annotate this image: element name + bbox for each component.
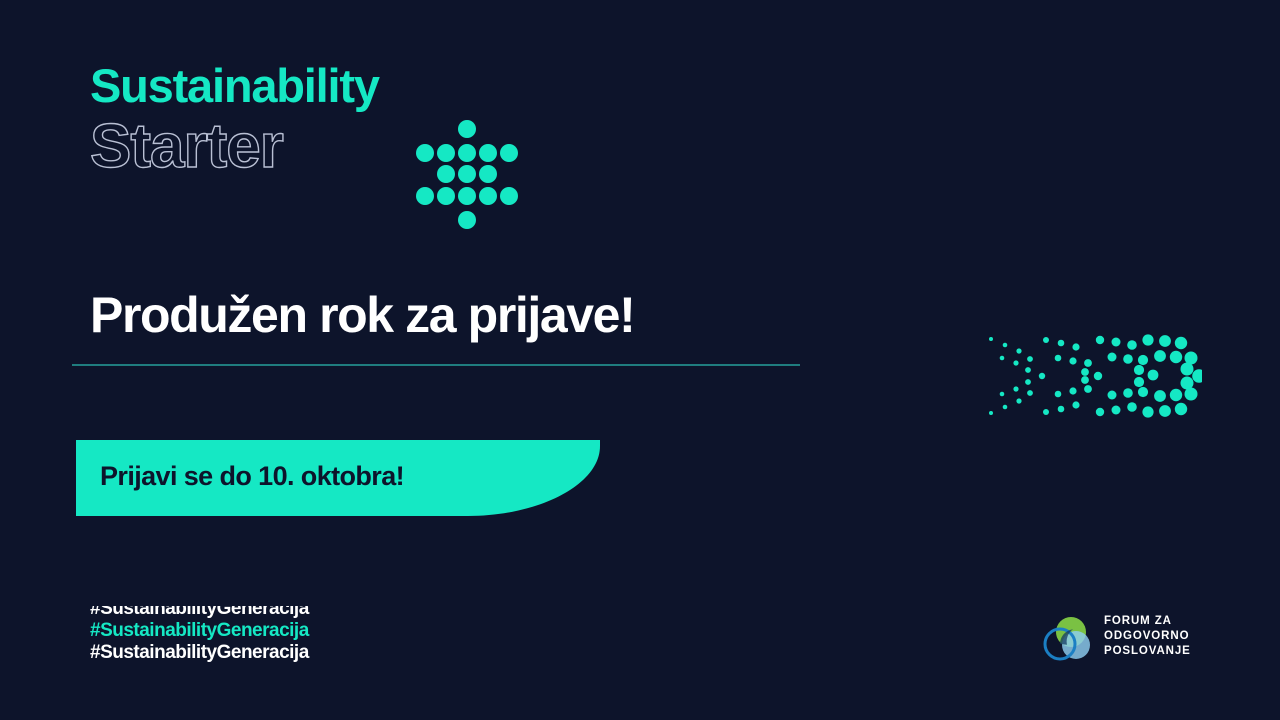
hashtag-line: #SustainabilityGeneracija — [90, 606, 390, 620]
headline-divider — [72, 364, 800, 366]
slide-canvas: Sustainability Starter — [0, 0, 1280, 720]
page-title: Produžen rok za prijave! — [90, 288, 634, 342]
partner-logo: FORUM ZA ODGOVORNO POSLOVANJE — [1043, 611, 1195, 667]
partner-name-line-3: POSLOVANJE — [1104, 644, 1191, 659]
chevron-arrow-dots-icon — [988, 332, 1202, 420]
hashtag-stack: #SustainabilityGeneracija #Sustainabilit… — [90, 606, 390, 668]
brand-lockup: Sustainability Starter — [90, 62, 520, 232]
forum-circles-logo-icon — [1043, 613, 1095, 665]
partner-name: FORUM ZA ODGOVORNO POSLOVANJE — [1104, 614, 1191, 659]
partner-name-line-2: ODGOVORNO — [1104, 629, 1191, 644]
brand-word-sustainability: Sustainability — [90, 62, 520, 109]
partner-name-line-1: FORUM ZA — [1104, 614, 1191, 629]
hashtag-line: #SustainabilityGeneracija — [90, 620, 390, 642]
hashtag-line: #SustainabilityGeneracija — [90, 642, 390, 664]
sustainability-starter-dot-mark-icon — [415, 117, 520, 232]
cta-banner-label[interactable]: Prijavi se do 10. oktobra! — [100, 461, 404, 492]
